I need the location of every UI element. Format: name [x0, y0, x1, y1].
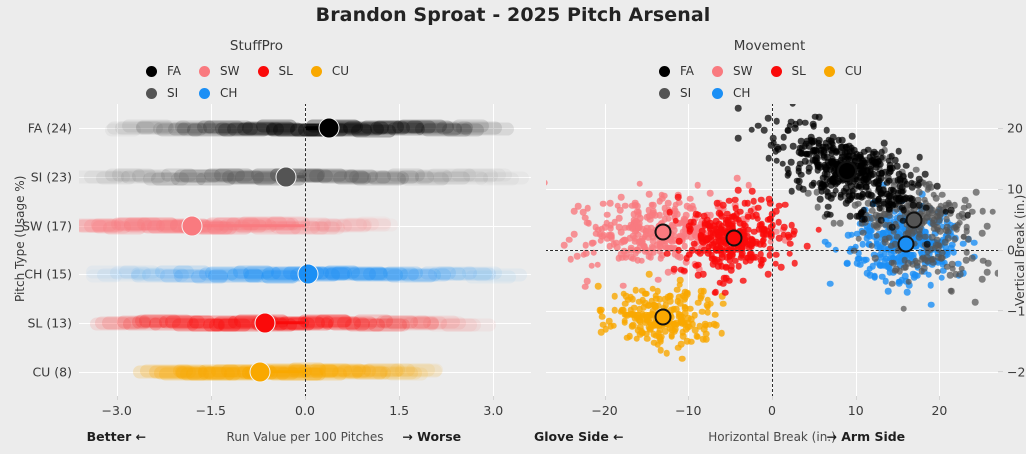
movement-point-fa	[827, 211, 834, 218]
movement-point-sl	[711, 258, 718, 265]
stuffpro-worse-annotation: → Worse	[402, 429, 461, 444]
movement-point-fa	[839, 137, 846, 144]
movement-point-sw	[681, 243, 688, 250]
movement-point-fa	[897, 183, 904, 190]
movement-point-sl	[672, 217, 679, 224]
movement-point-sl	[787, 240, 794, 247]
movement-centroid-cu[interactable]	[655, 308, 672, 325]
movement-point-si	[979, 276, 986, 283]
movement-point-ch	[885, 288, 892, 295]
movement-point-fa	[868, 162, 875, 169]
movement-point-si	[952, 236, 959, 243]
movement-point-sw	[644, 214, 651, 221]
movement-point-sl	[765, 271, 772, 278]
stuffpro-y-tick-label-fa: FA (24)	[28, 121, 72, 136]
movement-point-fa	[790, 104, 797, 107]
movement-point-fa	[761, 127, 768, 134]
pitch-cu-swatch-icon	[824, 66, 835, 77]
stuffpro-legend-item-sl[interactable]: SL	[258, 62, 293, 80]
stuffpro-y-axis-title: Pitch Type (Usage %)	[13, 176, 27, 302]
movement-point-fa	[924, 241, 931, 248]
movement-y-tick-mark	[998, 371, 1003, 372]
stuffpro-zero-reference-line	[305, 104, 306, 396]
movement-point-sl	[693, 262, 700, 269]
stuffpro-y-tick-label-cu: CU (8)	[32, 364, 72, 379]
movement-point-sl	[687, 226, 694, 233]
movement-point-sw	[639, 226, 646, 233]
movement-point-fa	[788, 159, 795, 166]
movement-point-fa	[876, 186, 883, 193]
movement-point-si	[969, 255, 976, 262]
movement-point-ch	[971, 239, 978, 246]
stuffpro-gridline-vertical	[117, 104, 118, 396]
movement-point-cu	[623, 312, 630, 319]
movement-point-fa	[805, 168, 812, 175]
movement-point-sw	[571, 208, 578, 215]
pitch-fa-swatch-icon	[146, 66, 157, 77]
movement-point-sl	[717, 280, 724, 287]
movement-point-fa	[821, 149, 828, 156]
pitch-cu-swatch-icon	[311, 66, 322, 77]
movement-panel: Movement FASISWCHSLCU −20−100102020100−1…	[513, 0, 1026, 454]
stuffpro-legend-label: SI	[167, 86, 178, 100]
movement-point-si	[913, 167, 920, 174]
movement-point-sw	[594, 261, 601, 268]
stuffpro-x-tick-label: 1.5	[389, 403, 409, 418]
movement-point-fa	[788, 188, 795, 195]
stuffpro-gridline-vertical	[493, 104, 494, 396]
stuffpro-marker-sw[interactable]	[182, 215, 203, 236]
movement-point-fa	[796, 184, 803, 191]
movement-x-tick-label: 10	[848, 403, 864, 418]
stuffpro-stem-sw	[192, 224, 305, 227]
movement-point-fa	[810, 121, 817, 128]
movement-legend-column: SWCH	[712, 62, 752, 102]
movement-point-sl	[742, 222, 749, 229]
movement-point-si	[949, 261, 956, 268]
movement-centroid-fa[interactable]	[837, 161, 857, 181]
movement-point-sl	[708, 233, 715, 240]
movement-legend-item-fa[interactable]: FA	[659, 62, 694, 80]
movement-point-sw	[622, 202, 629, 209]
movement-point-cu	[720, 300, 727, 307]
movement-point-fa	[810, 180, 817, 187]
movement-point-fa	[843, 200, 850, 207]
stuffpro-density-blob	[441, 318, 496, 331]
movement-legend-item-ch[interactable]: CH	[712, 84, 752, 102]
movement-x-tick-mark	[939, 396, 940, 400]
movement-point-si	[929, 234, 936, 241]
movement-point-sl	[695, 272, 702, 279]
movement-point-cu	[629, 296, 636, 303]
stuffpro-marker-ch[interactable]	[298, 264, 319, 285]
movement-point-sw	[592, 224, 599, 231]
movement-point-cu	[611, 293, 618, 300]
stuffpro-x-tick-mark	[399, 396, 400, 400]
stuffpro-legend-column: SL	[258, 62, 293, 102]
movement-legend-title: Movement	[513, 38, 1026, 54]
movement-point-cu	[702, 321, 709, 328]
movement-point-sl	[701, 213, 708, 220]
movement-point-cu	[611, 307, 618, 314]
movement-point-fa	[820, 182, 827, 189]
movement-point-sw	[656, 198, 663, 205]
movement-point-fa	[922, 171, 929, 178]
movement-y-tick-mark	[998, 128, 1003, 129]
movement-point-fa	[821, 161, 828, 168]
movement-point-ch	[927, 282, 934, 289]
movement-point-sl	[768, 224, 775, 231]
movement-point-sw	[657, 243, 664, 250]
movement-point-cu	[684, 289, 691, 296]
movement-point-si	[937, 228, 944, 235]
movement-point-cu	[681, 296, 688, 303]
movement-point-fa	[892, 201, 899, 208]
stuffpro-marker-fa[interactable]	[318, 118, 339, 139]
movement-point-cu	[595, 283, 602, 290]
movement-x-tick-mark	[688, 396, 689, 400]
movement-point-si	[860, 229, 867, 236]
movement-point-cu	[700, 336, 707, 343]
movement-point-sw	[616, 215, 623, 222]
stuffpro-y-tick-label-sw: SW (17)	[22, 218, 72, 233]
movement-point-fa	[773, 118, 780, 125]
movement-point-sl	[758, 196, 765, 203]
movement-point-fa	[796, 165, 803, 172]
movement-point-fa	[828, 139, 835, 146]
movement-point-fa	[862, 163, 869, 170]
movement-point-cu	[630, 322, 637, 329]
movement-point-sw	[582, 283, 589, 290]
movement-legend-item-sl[interactable]: SL	[771, 62, 806, 80]
movement-point-fa	[755, 123, 762, 130]
movement-point-sl	[671, 266, 678, 273]
movement-point-sl	[755, 204, 762, 211]
movement-point-sl	[732, 196, 739, 203]
movement-point-si	[933, 242, 940, 249]
stuffpro-legend-label: CU	[332, 64, 349, 78]
movement-point-fa	[774, 157, 781, 164]
movement-point-si	[901, 306, 908, 313]
stuffpro-x-tick-mark	[493, 396, 494, 400]
movement-point-si	[948, 288, 955, 295]
movement-point-fa	[784, 172, 791, 179]
movement-point-si	[939, 191, 946, 198]
movement-x-tick-label: −20	[591, 403, 617, 418]
movement-point-fa	[748, 126, 755, 133]
movement-point-cu	[639, 287, 646, 294]
movement-point-si	[957, 271, 964, 278]
movement-point-sw	[574, 253, 581, 260]
stuffpro-marker-si[interactable]	[276, 167, 297, 188]
movement-point-fa	[923, 205, 930, 212]
movement-point-sl	[718, 228, 725, 235]
movement-point-cu	[624, 334, 631, 341]
movement-point-fa	[838, 144, 845, 151]
movement-point-sl	[775, 219, 782, 226]
movement-point-si	[936, 217, 943, 224]
movement-point-sw	[671, 227, 678, 234]
movement-point-si	[922, 233, 929, 240]
movement-point-sl	[791, 260, 798, 267]
movement-x-tick-label: 20	[931, 403, 947, 418]
movement-glove-side-annotation: Glove Side ←	[534, 429, 624, 444]
movement-centroid-sw[interactable]	[655, 223, 672, 240]
stuffpro-density-blob	[460, 123, 513, 136]
movement-point-si	[872, 255, 879, 262]
movement-point-si	[984, 269, 991, 276]
stuffpro-density-blob	[363, 218, 398, 231]
movement-point-ch	[881, 258, 888, 265]
movement-point-sl	[722, 289, 729, 296]
movement-point-fa	[857, 154, 864, 161]
movement-point-fa	[899, 204, 906, 211]
movement-point-sl	[666, 209, 673, 216]
movement-point-sl	[745, 214, 752, 221]
movement-point-fa	[848, 148, 855, 155]
stuffpro-marker-sl[interactable]	[255, 313, 276, 334]
movement-point-si	[889, 259, 896, 266]
movement-legend-item-sw[interactable]: SW	[712, 62, 752, 80]
movement-legend-item-cu[interactable]: CU	[824, 62, 862, 80]
movement-point-cu	[642, 319, 649, 326]
movement-point-cu	[622, 317, 629, 324]
movement-point-fa	[903, 195, 910, 202]
movement-point-fa	[825, 203, 832, 210]
movement-point-fa	[817, 196, 824, 203]
movement-point-fa	[735, 105, 742, 112]
movement-point-cu	[633, 336, 640, 343]
movement-point-sw	[650, 202, 657, 209]
movement-point-si	[973, 189, 980, 196]
movement-point-sw	[665, 200, 672, 207]
movement-point-sw	[607, 243, 614, 250]
movement-point-cu	[686, 323, 693, 330]
movement-point-si	[994, 270, 998, 277]
movement-legend-label: SW	[733, 64, 752, 78]
movement-point-fa	[889, 224, 896, 231]
movement-point-si	[869, 215, 876, 222]
movement-point-sw	[607, 233, 614, 240]
movement-point-si	[931, 225, 938, 232]
movement-point-sl	[781, 224, 788, 231]
movement-point-sl	[750, 254, 757, 261]
movement-legend-label: FA	[680, 64, 694, 78]
movement-point-cu	[674, 298, 681, 305]
movement-point-sl	[735, 187, 742, 194]
movement-point-si	[972, 299, 979, 306]
movement-point-cu	[643, 330, 650, 337]
movement-point-ch	[825, 242, 832, 249]
movement-point-sl	[782, 201, 789, 208]
movement-centroid-si[interactable]	[906, 211, 923, 228]
stuffpro-legend-item-ch[interactable]: CH	[199, 84, 239, 102]
movement-point-sw	[618, 194, 625, 201]
movement-point-fa	[809, 157, 816, 164]
movement-arm-side-annotation: → Arm Side	[826, 429, 905, 444]
movement-point-cu	[678, 315, 685, 322]
movement-point-sl	[815, 226, 822, 233]
movement-point-fa	[816, 114, 823, 121]
movement-point-cu	[679, 355, 686, 362]
movement-point-sl	[714, 200, 721, 207]
movement-point-sw	[633, 218, 640, 225]
movement-point-ch	[928, 301, 935, 308]
movement-point-fa	[794, 177, 801, 184]
movement-x-axis-title: Horizontal Break (in.)	[708, 430, 836, 444]
movement-point-sl	[758, 257, 765, 264]
movement-point-si	[922, 257, 929, 264]
movement-point-si	[985, 260, 992, 267]
stuffpro-legend-item-cu[interactable]: CU	[311, 62, 349, 80]
movement-y-tick-mark	[998, 310, 1003, 311]
movement-point-fa	[790, 143, 797, 150]
movement-point-sw	[632, 202, 639, 209]
movement-point-cu	[718, 330, 725, 337]
movement-point-sl	[790, 231, 797, 238]
movement-point-cu	[668, 334, 675, 341]
stuffpro-legend: FASISWCHSLCU	[0, 62, 513, 102]
movement-point-si	[916, 189, 923, 196]
movement-point-fa	[792, 125, 799, 132]
movement-point-sw	[580, 251, 587, 258]
movement-point-fa	[798, 138, 805, 145]
movement-point-sl	[693, 211, 700, 218]
movement-point-sl	[675, 194, 682, 201]
movement-point-si	[965, 236, 972, 243]
movement-point-sw	[658, 255, 665, 262]
movement-point-si	[966, 202, 973, 209]
stuffpro-density-blob	[406, 363, 443, 376]
pitch-si-swatch-icon	[659, 88, 670, 99]
movement-point-si	[938, 255, 945, 262]
movement-point-fa	[895, 190, 902, 197]
movement-point-sl	[724, 254, 731, 261]
movement-point-fa	[917, 154, 924, 161]
movement-point-sl	[711, 223, 718, 230]
movement-point-sw	[602, 224, 609, 231]
stuffpro-marker-cu[interactable]	[249, 361, 270, 382]
movement-point-ch	[938, 274, 945, 281]
movement-point-cu	[630, 311, 637, 318]
stuffpro-x-tick-mark	[117, 396, 118, 400]
movement-y-tick-label: −20	[1007, 364, 1026, 379]
movement-point-si	[921, 196, 928, 203]
movement-centroid-ch[interactable]	[897, 235, 914, 252]
movement-point-sl	[773, 208, 780, 215]
movement-point-sw	[687, 196, 694, 203]
movement-point-sl	[678, 266, 685, 273]
movement-point-si	[905, 278, 912, 285]
movement-point-fa	[895, 148, 902, 155]
movement-point-fa	[780, 134, 787, 141]
movement-point-sw	[588, 262, 595, 269]
stuffpro-x-axis-title: Run Value per 100 Pitches	[227, 430, 384, 444]
stuffpro-panel: StuffPro FASISWCHSLCU −3.0−1.50.01.53.0F…	[0, 0, 513, 454]
movement-y-tick-mark	[998, 250, 1003, 251]
stuffpro-better-annotation: Better ←	[87, 429, 146, 444]
movement-point-cu	[642, 300, 649, 307]
movement-point-si	[929, 207, 936, 214]
movement-point-cu	[598, 329, 605, 336]
movement-point-cu	[662, 328, 669, 335]
movement-point-si	[944, 216, 951, 223]
movement-point-fa	[878, 217, 885, 224]
movement-point-fa	[964, 212, 971, 219]
movement-point-fa	[799, 150, 806, 157]
movement-point-fa	[810, 147, 817, 154]
movement-point-sw	[584, 278, 591, 285]
movement-point-sw	[546, 179, 548, 186]
movement-point-fa	[934, 183, 941, 190]
movement-legend-item-si[interactable]: SI	[659, 84, 694, 102]
movement-point-sl	[740, 277, 747, 284]
stuffpro-gridline-vertical	[399, 104, 400, 396]
movement-point-sl	[701, 222, 708, 229]
stuffpro-y-tick-label-sl: SL (13)	[27, 316, 72, 331]
movement-point-fa	[948, 207, 955, 214]
movement-point-fa	[878, 175, 885, 182]
movement-point-sw	[656, 212, 663, 219]
stuffpro-legend-label: SL	[279, 64, 293, 78]
movement-x-tick-mark	[772, 396, 773, 400]
movement-legend-column: FASI	[659, 62, 694, 102]
movement-point-sl	[713, 289, 720, 296]
movement-point-si	[902, 257, 909, 264]
stuffpro-x-tick-label: 3.0	[483, 403, 503, 418]
movement-point-cu	[663, 350, 670, 357]
stuffpro-x-tick-label: −1.5	[196, 403, 226, 418]
movement-point-si	[989, 208, 996, 215]
movement-x-tick-mark	[605, 396, 606, 400]
movement-point-sl	[716, 210, 723, 217]
movement-point-fa	[830, 191, 837, 198]
movement-point-cu	[677, 277, 684, 284]
movement-point-sw	[635, 239, 642, 246]
movement-point-si	[855, 200, 862, 207]
stuffpro-legend-item-si[interactable]: SI	[146, 84, 181, 102]
movement-point-sl	[804, 243, 811, 250]
movement-point-ch	[871, 274, 878, 281]
stuffpro-legend-item-fa[interactable]: FA	[146, 62, 181, 80]
movement-point-fa	[863, 176, 870, 183]
movement-point-fa	[859, 216, 866, 223]
movement-y-tick-label: 20	[1007, 121, 1023, 136]
movement-point-sl	[749, 188, 756, 195]
movement-point-cu	[674, 287, 681, 294]
movement-point-si	[963, 257, 970, 264]
movement-legend-label: CH	[733, 86, 750, 100]
movement-point-sw	[607, 200, 614, 207]
movement-point-cu	[596, 307, 603, 314]
stuffpro-legend-item-sw[interactable]: SW	[199, 62, 239, 80]
movement-point-sw	[618, 229, 625, 236]
movement-point-si	[892, 267, 899, 274]
movement-point-fa	[877, 161, 884, 168]
movement-y-tick-mark	[998, 189, 1003, 190]
movement-y-zero-reference-line	[546, 250, 998, 251]
movement-centroid-sl[interactable]	[726, 229, 743, 246]
movement-point-sl	[723, 216, 730, 223]
movement-point-sw	[638, 257, 645, 264]
movement-point-cu	[655, 341, 662, 348]
movement-point-si	[888, 242, 895, 249]
movement-point-sw	[646, 191, 653, 198]
stuffpro-gridline-vertical	[211, 104, 212, 396]
movement-point-cu	[712, 311, 719, 318]
movement-point-fa	[765, 115, 772, 122]
movement-legend-label: SI	[680, 86, 691, 100]
